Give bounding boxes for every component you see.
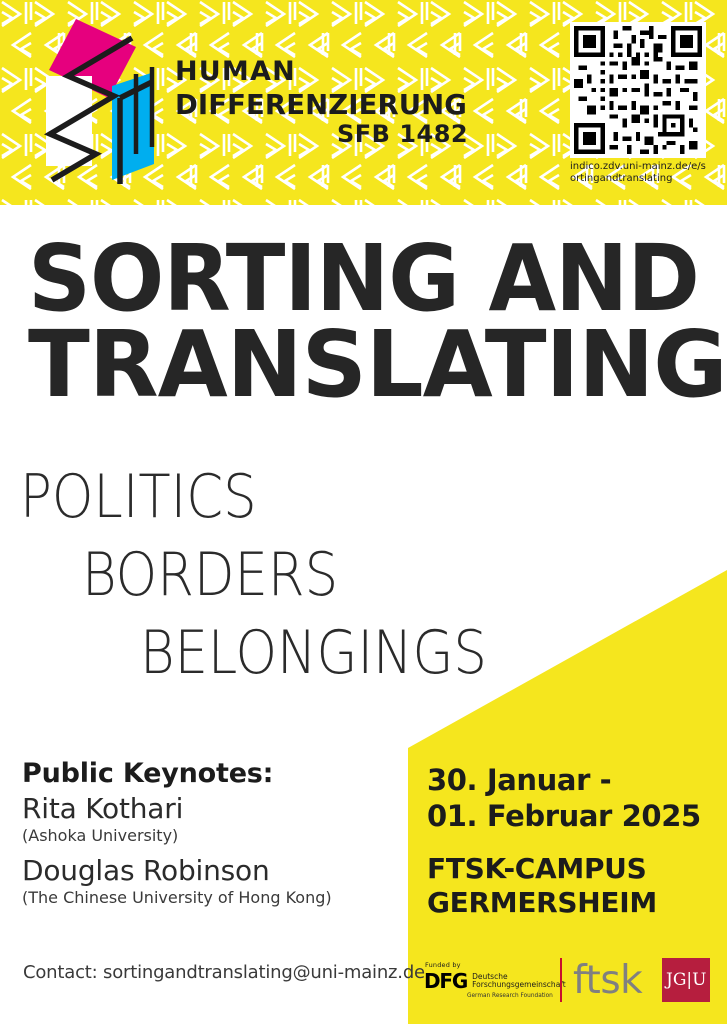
dfg-full-name: Deutsche Forschungsgemeinschaft — [472, 973, 566, 990]
contact-line[interactable]: Contact: sortingandtranslating@uni-mainz… — [23, 962, 425, 983]
sfb-number-label: SFB 1482 — [337, 120, 468, 148]
sponsor-logo-row: Funded by DFG Deutsche Forschungsgemeins… — [424, 952, 720, 1008]
jgu-logo-text: JG|U — [666, 972, 706, 989]
wordmark: HUMAN DIFFERENZIERUNG — [175, 58, 475, 120]
title-line-1: SORTING AND — [28, 236, 684, 322]
ftsk-logo: ftsk — [573, 961, 642, 1000]
qr-url-text: indico.zdv.uni-mainz.de/e/sortingandtran… — [570, 161, 710, 184]
subtitle-line-belongings: BELONGINGS — [140, 614, 642, 692]
dfg-english-subtitle: German Research Foundation — [467, 993, 548, 999]
title-line-2: TRANSLATING — [28, 322, 708, 408]
wordmark-line-human: HUMAN — [175, 58, 475, 85]
speaker-name-2: Douglas Robinson — [22, 854, 402, 887]
keynotes-heading: Public Keynotes: — [22, 758, 402, 789]
qr-code[interactable] — [570, 22, 706, 158]
wordmark-line-differenzierung: DIFFERENZIERUNG — [175, 92, 475, 120]
page-title: SORTING AND TRANSLATING — [28, 236, 718, 407]
event-date-line-1: 30. Januar - — [427, 762, 717, 798]
dfg-name-line-2: Forschungsgemeinschaft — [472, 981, 566, 989]
dfg-funded-by-label: Funded by — [425, 961, 548, 969]
dfg-acronym: DFG — [424, 971, 467, 991]
header-band: HUMAN DIFFERENZIERUNG SFB 1482 — [0, 0, 727, 205]
subtitle-line-borders: BORDERS — [82, 536, 635, 614]
qr-url-line-1: indico.zdv.uni-mainz.de/ — [570, 161, 691, 172]
event-venue-line-1: FTSK-CAMPUS — [427, 852, 717, 886]
speaker-affiliation-1: (Ashoka University) — [22, 826, 402, 845]
jgu-logo: JG|U — [662, 958, 710, 1002]
event-venue: FTSK-CAMPUS GERMERSHEIM — [427, 852, 717, 920]
conference-poster: HUMAN DIFFERENZIERUNG SFB 1482 — [0, 0, 727, 1024]
dfg-main-row: DFG Deutsche Forschungsgemeinschaft — [424, 971, 548, 991]
qr-block[interactable]: indico.zdv.uni-mainz.de/e/sortingandtran… — [570, 22, 712, 184]
subtitle-stack: POLITICS BORDERS BELONGINGS — [20, 458, 710, 692]
sfb-isometric-cube-logo — [24, 14, 184, 192]
event-info: 30. Januar - 01. Februar 2025 FTSK-CAMPU… — [427, 762, 717, 920]
speaker-name-1: Rita Kothari — [22, 792, 402, 825]
dfg-logo: Funded by DFG Deutsche Forschungsgemeins… — [424, 961, 548, 999]
event-venue-line-2: GERMERSHEIM — [427, 886, 717, 920]
subtitle-line-politics: POLITICS — [20, 458, 627, 536]
speaker-affiliation-2: (The Chinese University of Hong Kong) — [22, 888, 402, 907]
keynotes-block: Public Keynotes: Rita Kothari (Ashoka Un… — [22, 758, 402, 907]
event-date-line-2: 01. Februar 2025 — [427, 798, 717, 834]
sponsor-divider-rule — [560, 958, 562, 1002]
